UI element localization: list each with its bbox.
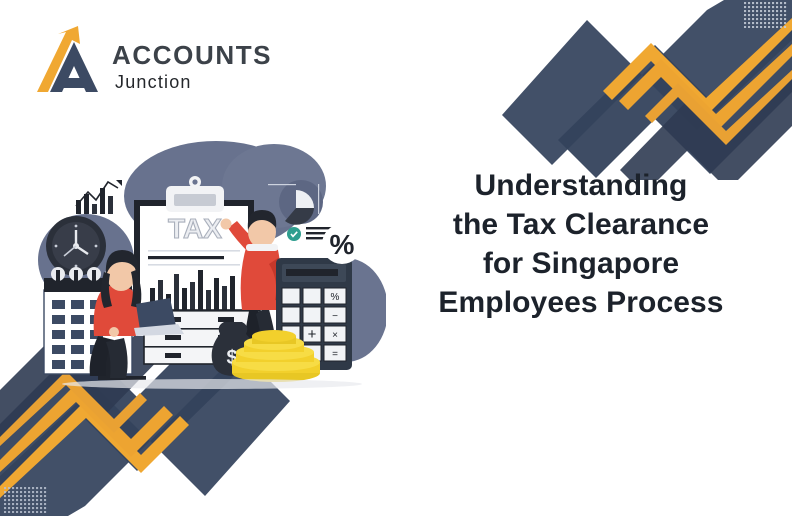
line-chart-glyph (76, 180, 122, 214)
corner-decoration-top-right (492, 0, 792, 180)
headline-line-1: Understanding (392, 166, 770, 205)
tax-clearance-illustration: TAX (38, 138, 386, 390)
headline-line-2: the Tax Clearance (392, 205, 770, 244)
percent-badge: % (322, 224, 362, 264)
brand-name-primary: ACCOUNTS (112, 42, 272, 68)
dot-grid-top-right (744, 2, 788, 28)
clipboard-tax-label: TAX (168, 213, 222, 244)
headline-line-3: for Singapore (392, 244, 770, 283)
brand-logo-text: ACCOUNTS Junction (112, 36, 272, 91)
arrow-triangle-logo-icon (34, 22, 100, 104)
headline-line-4: Employees Process (392, 283, 770, 322)
banner-root: ACCOUNTS Junction Understanding the Tax … (0, 0, 792, 516)
calculator-key-minus: − (332, 311, 338, 322)
brand-logo[interactable]: ACCOUNTS Junction (34, 22, 272, 104)
percent-symbol: % (330, 229, 355, 260)
dot-grid-bottom-left (4, 487, 48, 513)
headline-title: Understanding the Tax Clearance for Sing… (392, 166, 770, 322)
calculator-key-times: × (332, 330, 338, 341)
calculator-key-equals: = (332, 349, 338, 360)
brand-name-secondary: Junction (112, 73, 272, 91)
calculator-key-plus: + (308, 326, 317, 343)
calculator-key-percent: % (331, 292, 340, 303)
